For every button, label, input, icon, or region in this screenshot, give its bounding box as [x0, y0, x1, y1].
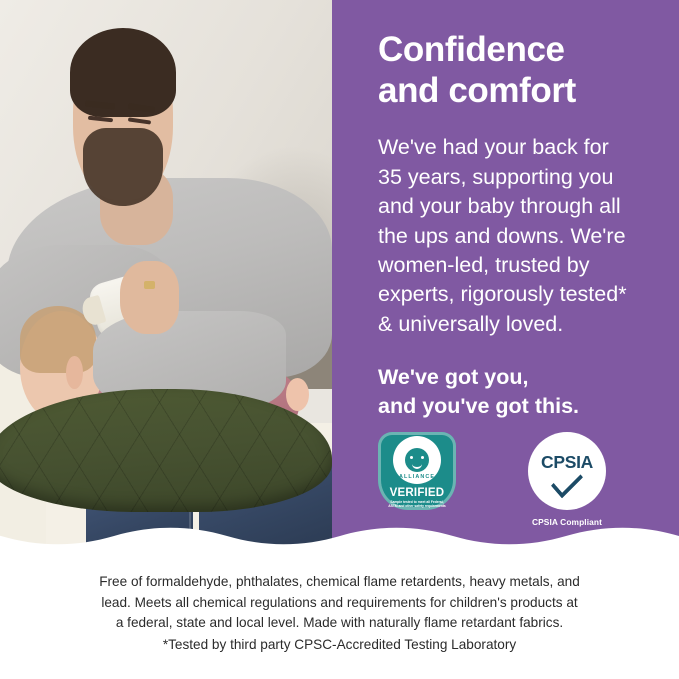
- photo-man-beard: [83, 128, 163, 206]
- lifestyle-photo: [0, 0, 332, 556]
- page-title: Confidence and comfort: [378, 30, 665, 111]
- verified-label: VERIFIED: [390, 487, 445, 499]
- purple-copy-panel: Confidence and comfort We've had your ba…: [332, 0, 679, 556]
- cpsia-seal-icon: CPSIA: [528, 432, 606, 510]
- product-info-poster: Confidence and comfort We've had your ba…: [0, 0, 679, 679]
- photo-baby-ear: [66, 356, 83, 389]
- verified-fineprint: Sample tested to meet all Federal, ASTM …: [385, 500, 449, 508]
- disclaimer-footnote: *Tested by third party CPSC-Accredited T…: [0, 635, 679, 656]
- disclaimer-block: Free of formaldehyde, phthalates, chemic…: [0, 572, 679, 656]
- photo-nursing-pillow: [0, 389, 332, 511]
- cpsia-badge: CPSIA CPSIA Compliant: [528, 432, 606, 527]
- baby-smile-glyph: [412, 462, 422, 469]
- baby-face-glyph: [405, 448, 429, 472]
- photo-man-hand: [120, 261, 180, 333]
- disclaimer-main: Free of formaldehyde, phthalates, chemic…: [0, 572, 679, 634]
- photo-wedding-ring: [144, 281, 155, 289]
- badge-arc-bottom-label: ALLIANCE: [378, 474, 456, 480]
- photo-pillow-quilting: [0, 389, 332, 511]
- hero-band: Confidence and comfort We've had your ba…: [0, 0, 679, 556]
- shield-icon: BABY SAFETY ALLIANCE VERIFIED Sample tes…: [378, 432, 456, 510]
- certification-badges: BABY SAFETY ALLIANCE VERIFIED Sample tes…: [378, 432, 606, 527]
- baby-safety-alliance-badge: BABY SAFETY ALLIANCE VERIFIED Sample tes…: [378, 432, 456, 510]
- body-copy: We've had your back for 35 years, suppor…: [378, 133, 665, 339]
- cpsia-caption: CPSIA Compliant: [528, 517, 606, 527]
- kicker-copy: We've got you, and you've got this.: [378, 363, 665, 420]
- copy-block: Confidence and comfort We've had your ba…: [378, 30, 665, 421]
